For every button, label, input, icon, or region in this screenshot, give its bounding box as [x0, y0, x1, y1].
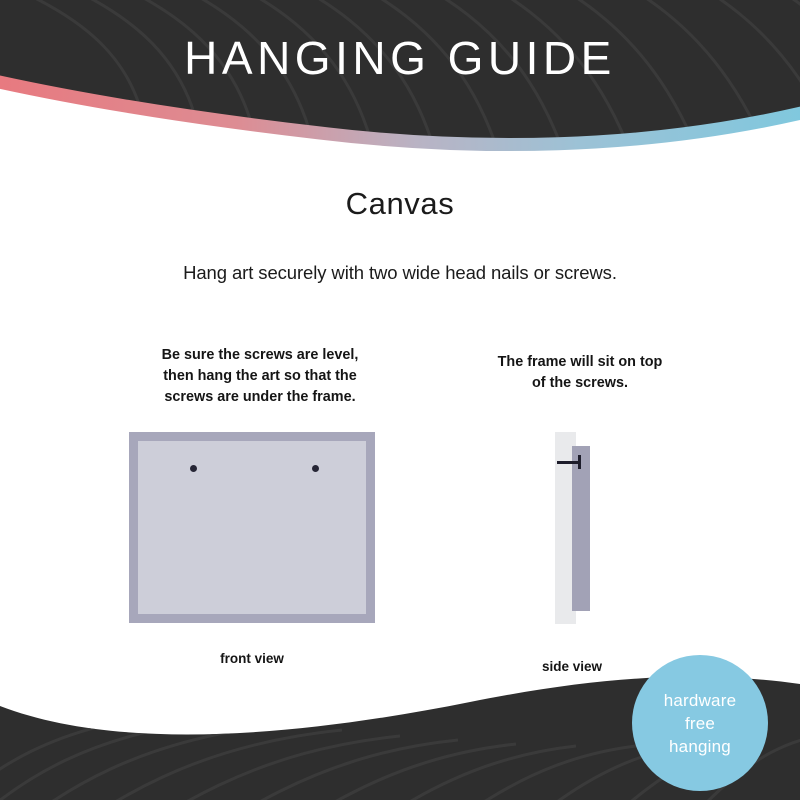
badge-line-3: hanging [664, 735, 736, 758]
side-caption-line-1: The frame will sit on top [452, 352, 708, 373]
side-caption-line-2: of the screws. [452, 373, 708, 394]
badge-line-1: hardware [664, 689, 736, 712]
front-view-frame-diagram [129, 432, 375, 623]
product-title: Canvas [0, 186, 800, 222]
instruction-lede: Hang art securely with two wide head nai… [0, 262, 800, 284]
page-title: HANGING GUIDE [0, 31, 800, 85]
frame-canvas-area [138, 441, 366, 614]
hanging-guide-page: HANGING GUIDE Canvas Hang art securely w… [0, 0, 800, 800]
side-view-frame [572, 446, 590, 611]
side-view-caption: The frame will sit on top of the screws. [452, 352, 708, 394]
front-caption-line-1: Be sure the screws are level, [110, 345, 410, 366]
badge-text: hardware free hanging [664, 689, 736, 758]
screw-dot-right-icon [312, 465, 319, 472]
screw-head-icon [578, 455, 581, 469]
hardware-free-hanging-badge: hardware free hanging [632, 655, 768, 791]
front-view-caption: Be sure the screws are level, then hang … [110, 345, 410, 408]
front-caption-line-2: then hang the art so that the [110, 366, 410, 387]
screw-dot-left-icon [190, 465, 197, 472]
front-caption-line-3: screws are under the frame. [110, 387, 410, 408]
header-banner: HANGING GUIDE [0, 0, 800, 160]
badge-line-2: free [664, 712, 736, 735]
